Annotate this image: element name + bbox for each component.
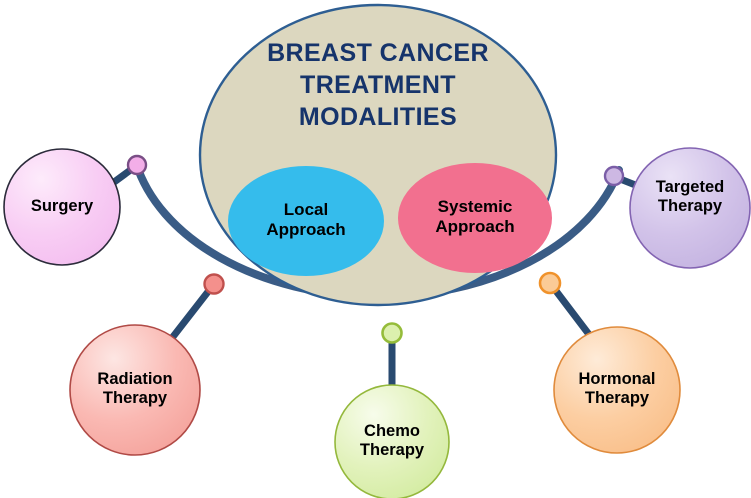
node-chemo[interactable]	[383, 324, 402, 343]
node-hormonal[interactable]	[540, 273, 560, 293]
targeted-therapy-circle[interactable]	[630, 148, 750, 268]
radiation-therapy-circle[interactable]	[70, 325, 200, 455]
page-title: BREAST CANCER TREATMENT MODALITIES	[228, 38, 528, 133]
node-radiation[interactable]	[205, 275, 224, 294]
diagram-canvas: BREAST CANCER TREATMENT MODALITIES Local…	[0, 0, 751, 498]
systemic-approach-ellipse[interactable]	[398, 163, 552, 273]
node-targeted[interactable]	[605, 167, 623, 185]
local-approach-ellipse[interactable]	[228, 166, 384, 276]
surgery-circle[interactable]	[4, 149, 120, 265]
chemo-therapy-circle[interactable]	[335, 385, 449, 498]
node-surgery[interactable]	[128, 156, 146, 174]
hormonal-therapy-circle[interactable]	[554, 327, 680, 453]
